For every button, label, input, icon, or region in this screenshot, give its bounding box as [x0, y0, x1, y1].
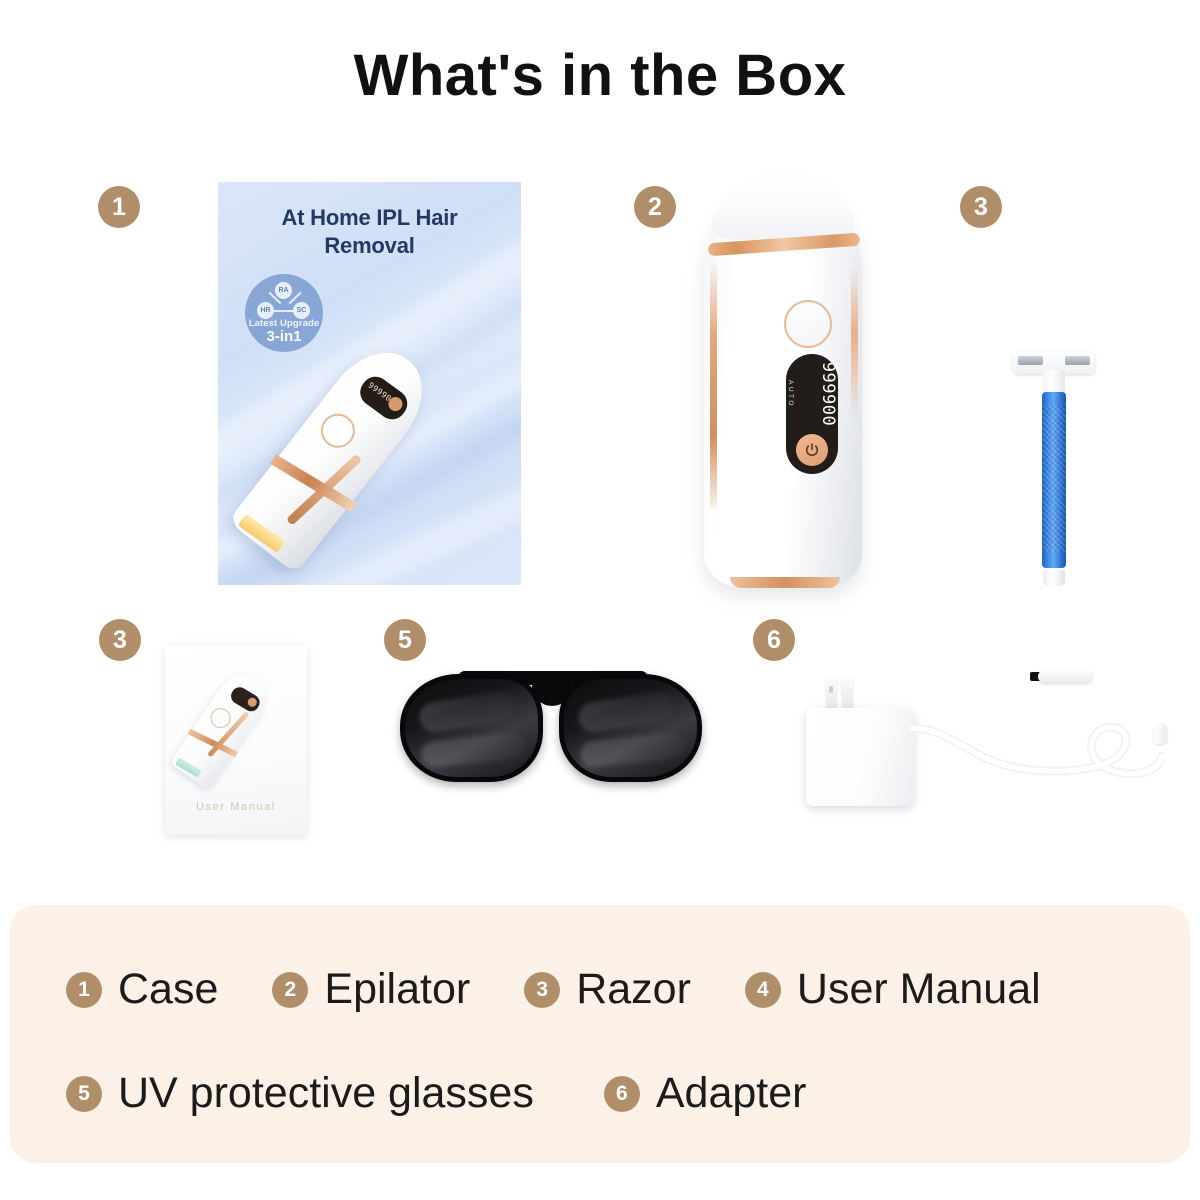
epilator-screen-digits: 999900: [818, 362, 838, 426]
epilator-screen: AUTO 999900: [786, 354, 838, 474]
badge-count-label: 3-in1: [266, 329, 301, 346]
product-image-user-manual: User Manual: [165, 645, 307, 835]
marker-adapter: 6: [753, 619, 795, 661]
glasses-lens-highlight: [579, 732, 685, 769]
glasses-lens-highlight: [576, 690, 676, 735]
marker-user-manual: 3: [99, 619, 141, 661]
page-title: What's in the Box: [0, 42, 1200, 109]
legend-marker-1: 1: [66, 972, 102, 1008]
glasses-lens-left: [400, 674, 543, 782]
legend-row-2: 5 UV protective glasses 6 Adapter: [66, 1069, 806, 1118]
legend-marker-2: 2: [272, 972, 308, 1008]
glasses-lens-right: [559, 674, 702, 782]
manual-cover-device-illustration: [170, 664, 277, 790]
legend-label-epilator: Epilator: [324, 965, 470, 1014]
product-image-uv-glasses: [400, 668, 702, 788]
badge-node-diagram: RA HR SC: [245, 282, 323, 318]
badge-upgrade-label: Latest Upgrade: [249, 318, 320, 329]
epilator-bottom-trim: [730, 577, 840, 588]
product-image-epilator: AUTO 999900: [704, 182, 862, 588]
adapter-connector: [1038, 670, 1092, 683]
epilator-edge-trim: [710, 260, 717, 510]
adapter-cable-path: [910, 712, 1164, 812]
product-image-adapter: [798, 662, 1170, 818]
legend-item-razor: 3 Razor: [524, 965, 691, 1014]
epilator-mode-button: [784, 300, 832, 348]
legend-item-adapter: 6 Adapter: [604, 1069, 807, 1118]
razor-grip-texture: [1042, 404, 1066, 552]
legend-marker-6: 6: [604, 1076, 640, 1112]
adapter-plug-prong: [826, 678, 837, 712]
manual-cover-caption: User Manual: [165, 801, 307, 813]
badge-node-sc: SC: [293, 302, 310, 319]
product-image-case: At Home IPL Hair Removal RA HR SC Latest…: [218, 182, 521, 585]
legend-marker-5: 5: [66, 1076, 102, 1112]
adapter-prong-hole: [829, 686, 833, 693]
legend-label-user-manual: User Manual: [797, 965, 1041, 1014]
badge-node-ra: RA: [275, 282, 292, 299]
legend-row-1: 1 Case 2 Epilator 3 Razor 4 User Manual: [66, 965, 1041, 1014]
marker-epilator: 2: [634, 186, 676, 228]
epilator-screen-mode-label: AUTO: [787, 380, 794, 408]
legend-label-razor: Razor: [576, 965, 691, 1014]
razor-handle-end-cap: [1043, 570, 1065, 586]
legend-panel: 1 Case 2 Epilator 3 Razor 4 User Manual …: [10, 905, 1190, 1163]
razor-handle: [1042, 392, 1066, 568]
razor-blade: [1065, 356, 1090, 365]
legend-label-adapter: Adapter: [656, 1069, 807, 1118]
power-icon: [796, 434, 828, 466]
adapter-brick: [806, 708, 914, 806]
legend-item-user-manual: 4 User Manual: [745, 965, 1041, 1014]
manual-device-screen-indicator: [246, 696, 258, 708]
marker-razor: 3: [960, 186, 1002, 228]
badge-node-hr: HR: [257, 302, 274, 319]
legend-item-case: 1 Case: [66, 965, 218, 1014]
legend-label-uv-glasses: UV protective glasses: [118, 1069, 534, 1118]
glasses-lens-highlight: [420, 732, 526, 769]
legend-marker-3: 3: [524, 972, 560, 1008]
marker-glasses: 5: [384, 619, 426, 661]
epilator-top-cap: [712, 182, 854, 240]
legend-label-case: Case: [118, 965, 218, 1014]
case-headline-line-1: At Home IPL Hair: [218, 204, 521, 232]
adapter-plug-prong: [842, 678, 853, 712]
glasses-lens-highlight: [417, 690, 517, 735]
legend-marker-4: 4: [745, 972, 781, 1008]
adapter-cable-tie: [1154, 724, 1167, 744]
marker-case: 1: [98, 186, 140, 228]
legend-item-uv-glasses: 5 UV protective glasses: [66, 1069, 534, 1118]
case-headline: At Home IPL Hair Removal: [218, 204, 521, 259]
legend-item-epilator: 2 Epilator: [272, 965, 470, 1014]
razor-blade: [1018, 356, 1043, 365]
case-headline-line-2: Removal: [218, 232, 521, 260]
upgrade-badge: RA HR SC Latest Upgrade 3-in1: [245, 274, 323, 352]
adapter-cable: [910, 712, 1164, 812]
epilator-edge-trim: [851, 266, 858, 416]
product-image-razor: [1013, 344, 1095, 586]
